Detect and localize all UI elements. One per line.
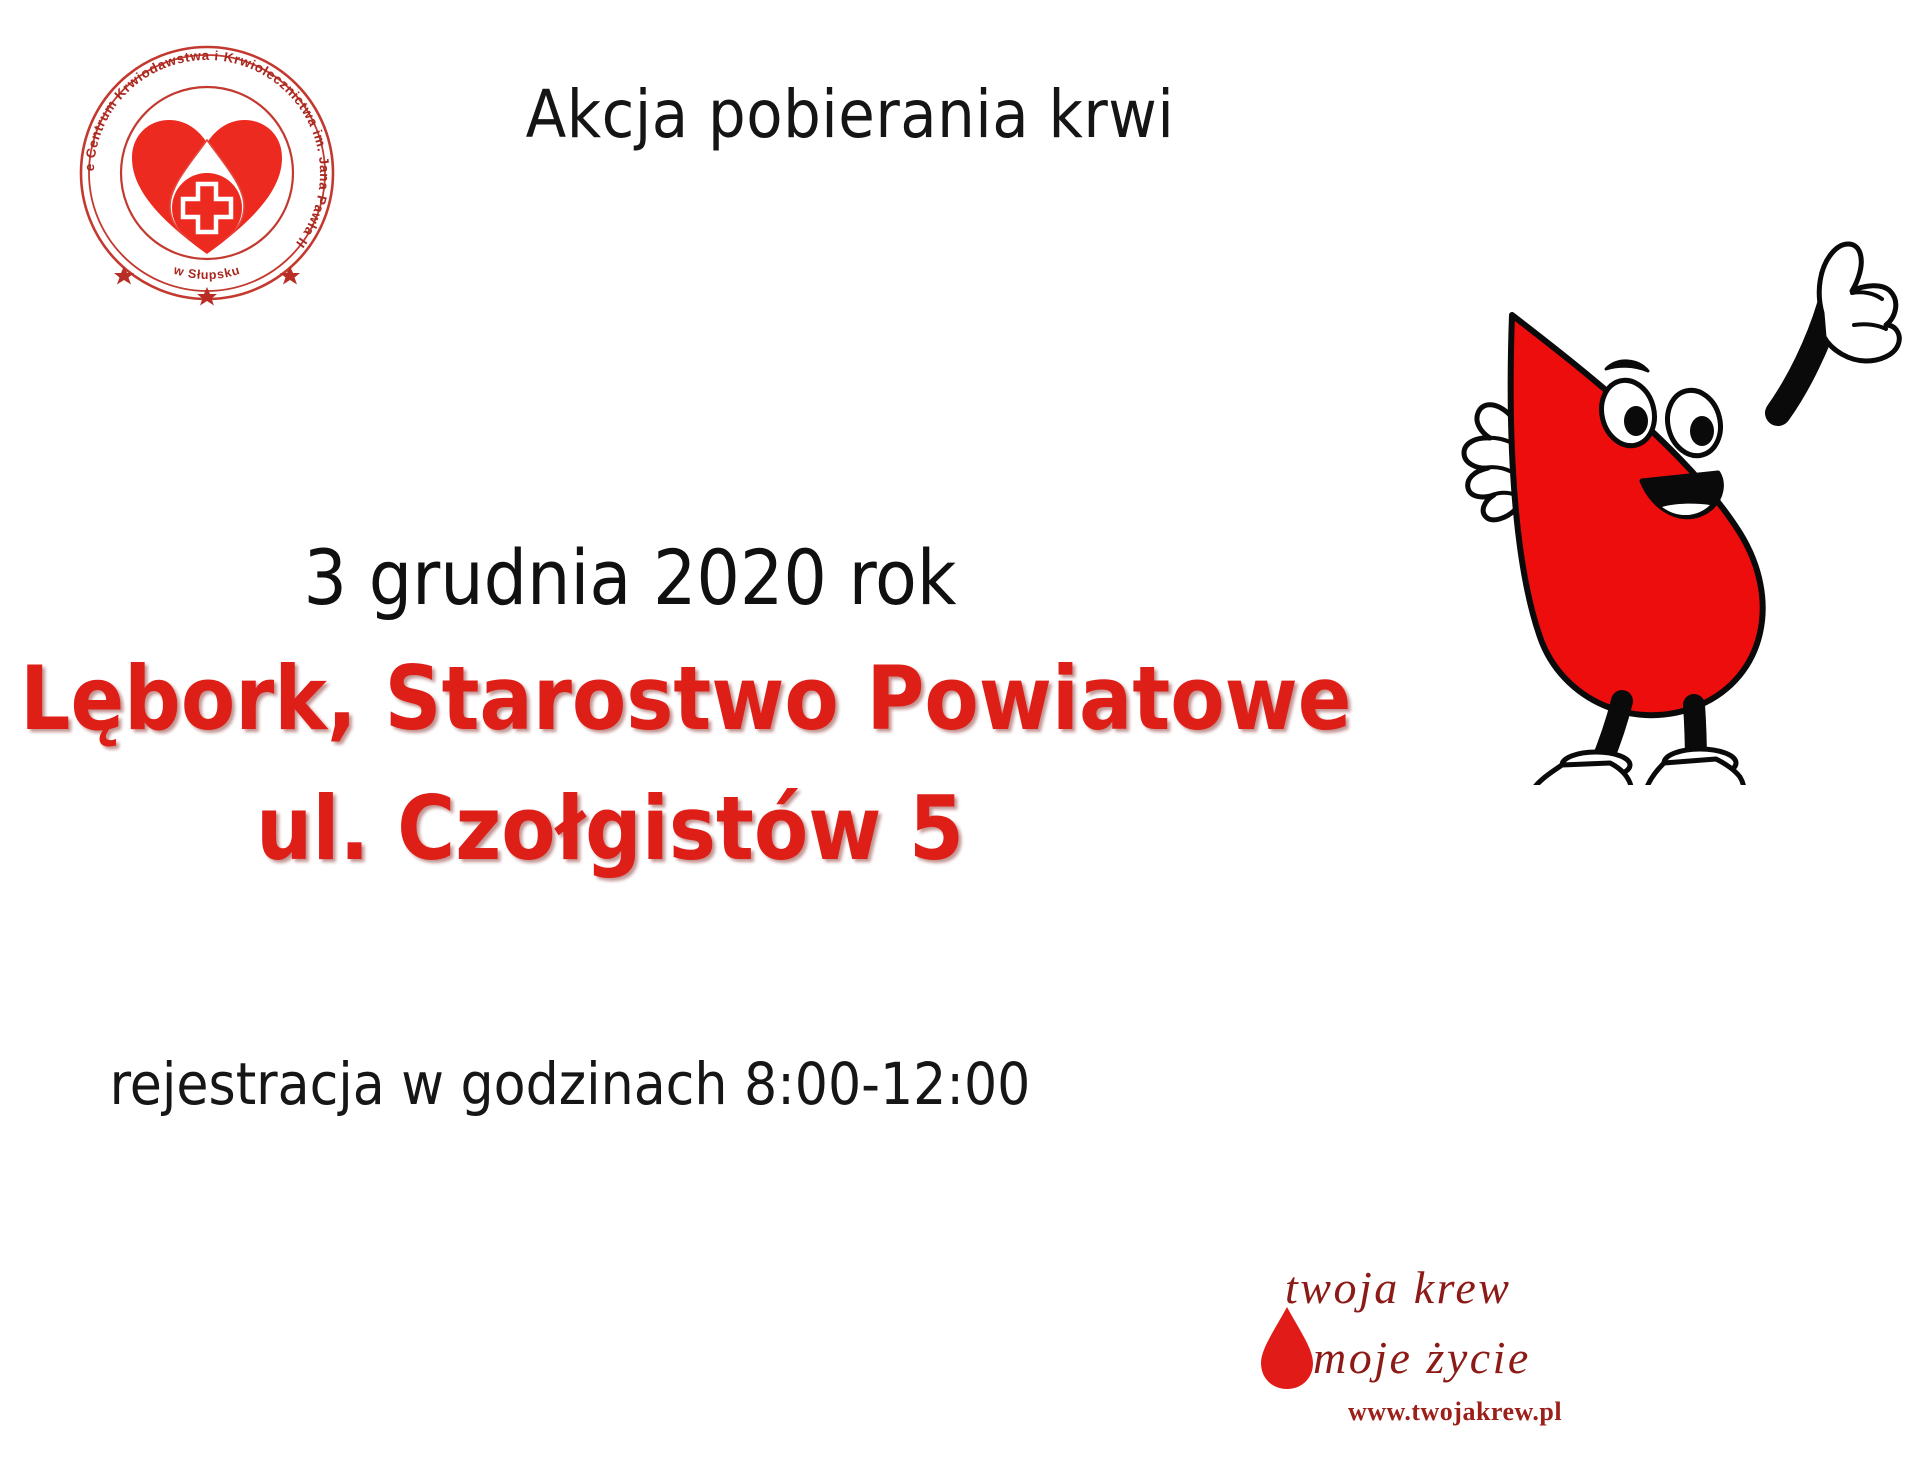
mascot-thumbs-up-hand [1819, 244, 1899, 361]
twojakrew-url: www.twojakrew.pl [1348, 1397, 1562, 1426]
mascot-shoe-left [1528, 752, 1631, 785]
rckik-slupsk-logo: Regionalne Centrum Krwiodawstwa i Krwiol… [62, 28, 352, 318]
mascot-eyebrow [1606, 361, 1648, 371]
venue-line-2: ul. Czołgistów 5 [20, 785, 1200, 873]
twojakrew-line2: moje życie [1313, 1332, 1531, 1383]
mascot-shoe-right [1644, 749, 1744, 785]
small-blood-drop-icon [1261, 1307, 1313, 1389]
event-date: 3 grudnia 2020 rok [180, 540, 1080, 616]
rckik-ring-text-bottom: w Słupsku [171, 263, 242, 282]
mascot-pupil-right [1690, 416, 1714, 446]
mascot-pupil-left [1624, 406, 1648, 436]
blood-drop-mascot [1390, 185, 1920, 785]
page-title: Akcja pobierania krwi [500, 82, 1200, 148]
twojakrew-line1: twoja krew [1285, 1262, 1511, 1313]
venue-line-1: Lębork, Starostwo Powiatowe [20, 655, 1200, 743]
blood-donation-poster: Regionalne Centrum Krwiodawstwa i Krwiol… [0, 0, 1920, 1471]
twojakrew-logo: twoja krew moje życie www.twojakrew.pl [1245, 1255, 1665, 1430]
mascot-body [1511, 315, 1763, 715]
registration-hours: rejestracja w godzinach 8:00-12:00 [70, 1055, 1070, 1113]
